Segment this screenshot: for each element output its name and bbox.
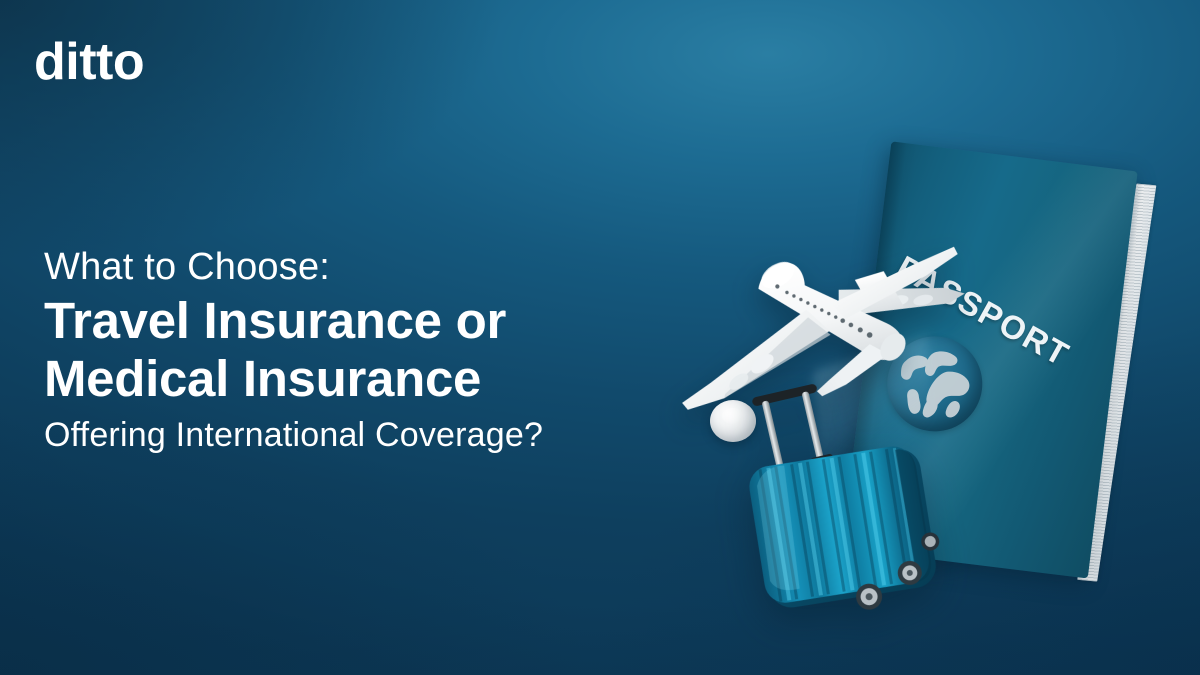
headline-main-line-2: Medical Insurance (44, 350, 704, 408)
hero-illustration: PASSPORT (640, 110, 1200, 630)
headline-eyebrow: What to Choose: (44, 247, 704, 288)
headline-block: What to Choose: Travel Insurance or Medi… (44, 247, 704, 455)
banner-canvas: ditto What to Choose: Travel Insurance o… (0, 0, 1200, 675)
headline-main-line-1: Travel Insurance or (44, 292, 704, 350)
headline-subtitle: Offering International Coverage? (44, 417, 704, 454)
brand-logo[interactable]: ditto (34, 36, 144, 88)
